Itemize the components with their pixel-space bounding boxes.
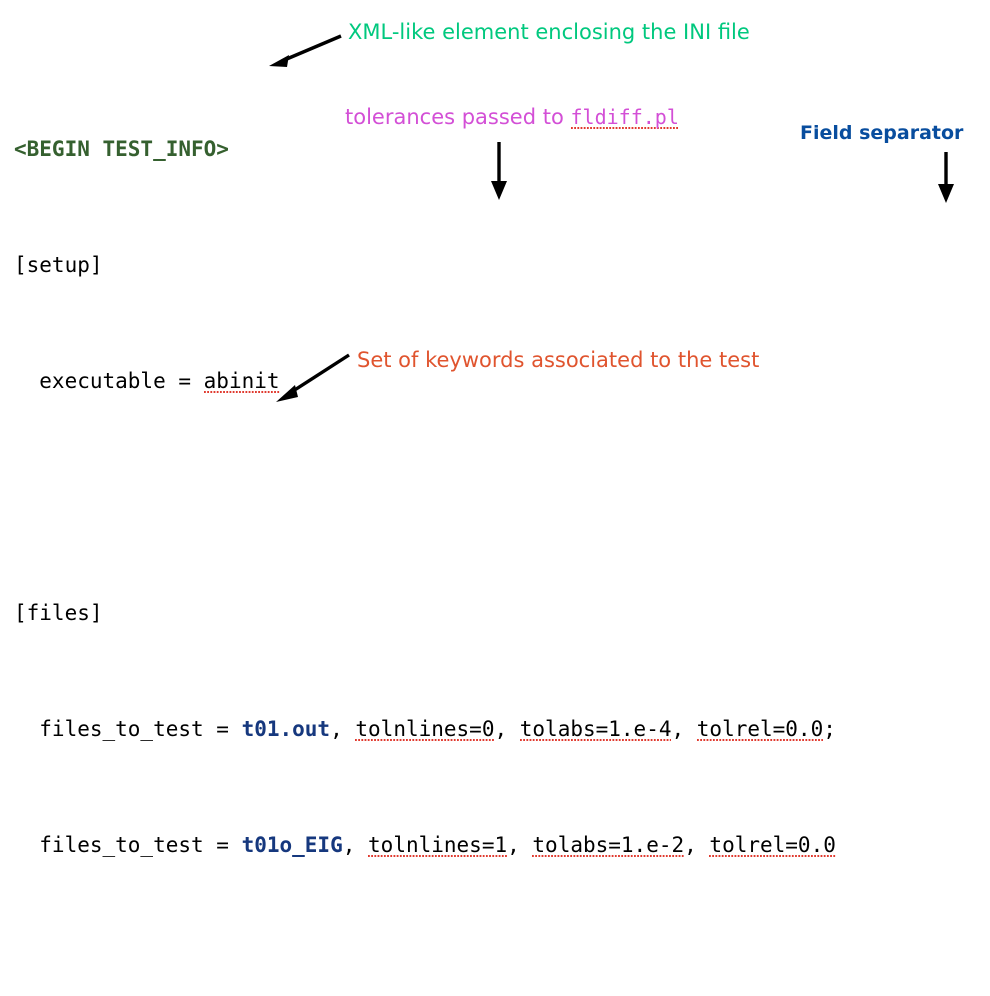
sep-1a: ,: [330, 717, 355, 741]
tolrel-2: tolrel=0.0: [709, 833, 835, 858]
code-line-blank-2: [14, 947, 836, 976]
sep-1b: ,: [494, 717, 519, 741]
begin-test-info-tag: <BEGIN TEST_INFO>: [14, 137, 229, 161]
executable-value: abinit: [204, 369, 280, 394]
test-file-name-2: t01o_EIG: [242, 833, 343, 857]
tolabs-1: tolabs=1.e-4: [520, 717, 672, 742]
test-file-name-1: t01.out: [242, 717, 331, 741]
code-line-section-setup: [setup]: [14, 251, 836, 280]
annotation-keywords-set: Set of keywords associated to the test: [357, 348, 759, 372]
code-line-begin-tag: <BEGIN TEST_INFO>: [14, 135, 836, 164]
slide-canvas: <BEGIN TEST_INFO> [setup] executable = a…: [0, 0, 990, 498]
files-to-test-key-2: files_to_test =: [14, 833, 242, 857]
code-line-files-to-test-1: files_to_test = t01.out, tolnlines=0, to…: [14, 715, 836, 744]
sep-1c: ,: [671, 717, 696, 741]
section-header-files: [files]: [14, 601, 103, 625]
sep-2b: ,: [507, 833, 532, 857]
tolrel-1: tolrel=0.0: [697, 717, 823, 742]
arrow-to-field-separator-icon: [935, 150, 959, 205]
sep-2a: ,: [343, 833, 368, 857]
annotation-xml-like: XML-like element enclosing the INI file: [348, 20, 750, 44]
executable-key: executable =: [14, 369, 204, 393]
section-header-setup: [setup]: [14, 253, 103, 277]
annotation-tolerances: tolerances passed to fldiff.pl: [345, 105, 679, 129]
annotation-tolerances-script: fldiff.pl: [571, 105, 679, 130]
tolabs-2: tolabs=1.e-2: [532, 833, 684, 858]
annotation-tolerances-prefix: tolerances passed to: [345, 105, 571, 129]
test-info-code-block: <BEGIN TEST_INFO> [setup] executable = a…: [14, 48, 836, 996]
files-to-test-key-1: files_to_test =: [14, 717, 242, 741]
code-line-section-files: [files]: [14, 599, 836, 628]
tolnlines-1: tolnlines=0: [355, 717, 494, 742]
sep-2c: ,: [684, 833, 709, 857]
annotation-field-separator: Field separator: [800, 122, 963, 144]
code-line-files-to-test-2: files_to_test = t01o_EIG, tolnlines=1, t…: [14, 831, 836, 860]
tolnlines-2: tolnlines=1: [368, 833, 507, 858]
field-separator-semicolon: ;: [823, 717, 836, 741]
